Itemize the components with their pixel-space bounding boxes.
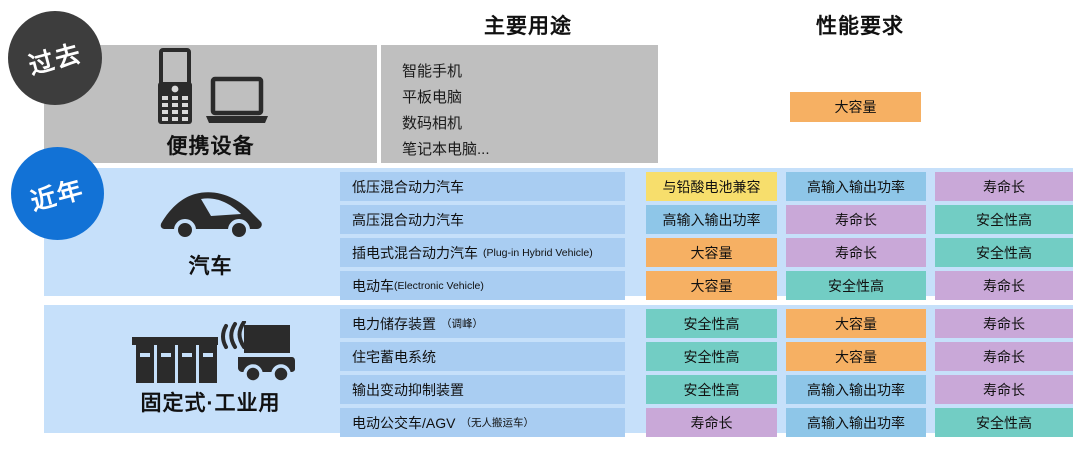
badge: 大容量 <box>646 238 777 267</box>
battery-cabinet-icon <box>132 337 218 383</box>
row-label: 高压混合动力汽车 <box>340 205 625 234</box>
agv-truck-icon <box>238 325 295 382</box>
badge: 寿命长 <box>646 408 777 437</box>
infographic-canvas: 主要用途 性能要求 <box>0 0 1080 450</box>
row-label: 住宅蓄电系统 <box>340 342 625 371</box>
row-label-sub: (Plug-in Hybrid Vehicle) <box>483 247 593 259</box>
badge: 寿命长 <box>786 205 926 234</box>
row-label-text: 电动车 <box>352 276 394 296</box>
row-label: 插电式混合动力汽车 (Plug-in Hybrid Vehicle) <box>340 238 625 267</box>
badge: 寿命长 <box>935 271 1073 300</box>
badge: 高输入输出功率 <box>646 205 777 234</box>
row-label-text: 电动公交车/AGV <box>352 413 455 433</box>
performance-badge-portable: 大容量 <box>790 92 921 122</box>
badge: 高输入输出功率 <box>786 375 926 404</box>
portable-divider <box>377 45 381 163</box>
era-badge-past: 过去 <box>8 11 102 105</box>
row-label-text: 低压混合动力汽车 <box>352 177 464 197</box>
badge: 安全性高 <box>646 309 777 338</box>
column-header-performance: 性能要求 <box>760 10 960 40</box>
usage-item: 智能手机 <box>402 59 658 85</box>
badge: 大容量 <box>786 309 926 338</box>
badge: 安全性高 <box>935 205 1073 234</box>
era-badge-recent: 近年 <box>11 147 104 240</box>
row-label-sub: （无人搬运车） <box>460 415 534 430</box>
row-label: 电力储存装置 （调峰） <box>340 309 625 338</box>
badge: 安全性高 <box>646 342 777 371</box>
category-label-stationary: 固定式·工业用 <box>141 387 281 417</box>
column-header-usage: 主要用途 <box>398 10 658 40</box>
badge: 寿命长 <box>786 238 926 267</box>
row-label: 电动公交车/AGV （无人搬运车） <box>340 408 625 437</box>
portable-usage-list: 智能手机 平板电脑 数码相机 笔记本电脑... <box>384 45 658 163</box>
category-label-automotive: 汽车 <box>189 250 233 280</box>
row-label: 电动车 (Electronic Vehicle) <box>340 271 625 300</box>
badge: 高输入输出功率 <box>786 172 926 201</box>
row-label-text: 插电式混合动力汽车 <box>352 243 478 263</box>
car-icon <box>155 184 267 246</box>
badge: 寿命长 <box>935 309 1073 338</box>
laptop-icon <box>204 76 270 126</box>
row-label-text: 高压混合动力汽车 <box>352 210 464 230</box>
row-label-sub: (Electronic Vehicle) <box>394 280 484 292</box>
usage-item: 笔记本电脑... <box>402 137 658 163</box>
row-label-text: 输出变动抑制装置 <box>352 380 464 400</box>
badge: 与铅酸电池兼容 <box>646 172 777 201</box>
portable-icons <box>152 48 270 126</box>
row-label: 输出变动抑制装置 <box>340 375 625 404</box>
badge: 安全性高 <box>935 238 1073 267</box>
row-label: 低压混合动力汽车 <box>340 172 625 201</box>
usage-item: 数码相机 <box>402 111 658 137</box>
row-label-text: 电力储存装置 <box>352 314 436 334</box>
stationary-icons <box>126 321 296 383</box>
usage-item: 平板电脑 <box>402 85 658 111</box>
badge: 安全性高 <box>935 408 1073 437</box>
badge: 寿命长 <box>935 375 1073 404</box>
badge: 寿命长 <box>935 342 1073 371</box>
era-label-past: 过去 <box>24 34 85 83</box>
era-label-recent: 近年 <box>27 169 88 218</box>
badge: 安全性高 <box>646 375 777 404</box>
badge: 高输入输出功率 <box>786 408 926 437</box>
row-label-sub: （调峰） <box>441 316 483 331</box>
row-label-text: 住宅蓄电系统 <box>352 347 436 367</box>
badge: 大容量 <box>646 271 777 300</box>
badge: 安全性高 <box>786 271 926 300</box>
badge: 寿命长 <box>935 172 1073 201</box>
stationary-icon-group: 固定式·工业用 <box>44 305 377 433</box>
badge: 大容量 <box>786 342 926 371</box>
section-portable: 便携设备 智能手机 平板电脑 数码相机 笔记本电脑... <box>44 45 658 163</box>
category-label-portable: 便携设备 <box>167 130 255 160</box>
wireless-signal-icon <box>223 322 244 347</box>
flip-phone-icon <box>152 48 198 126</box>
